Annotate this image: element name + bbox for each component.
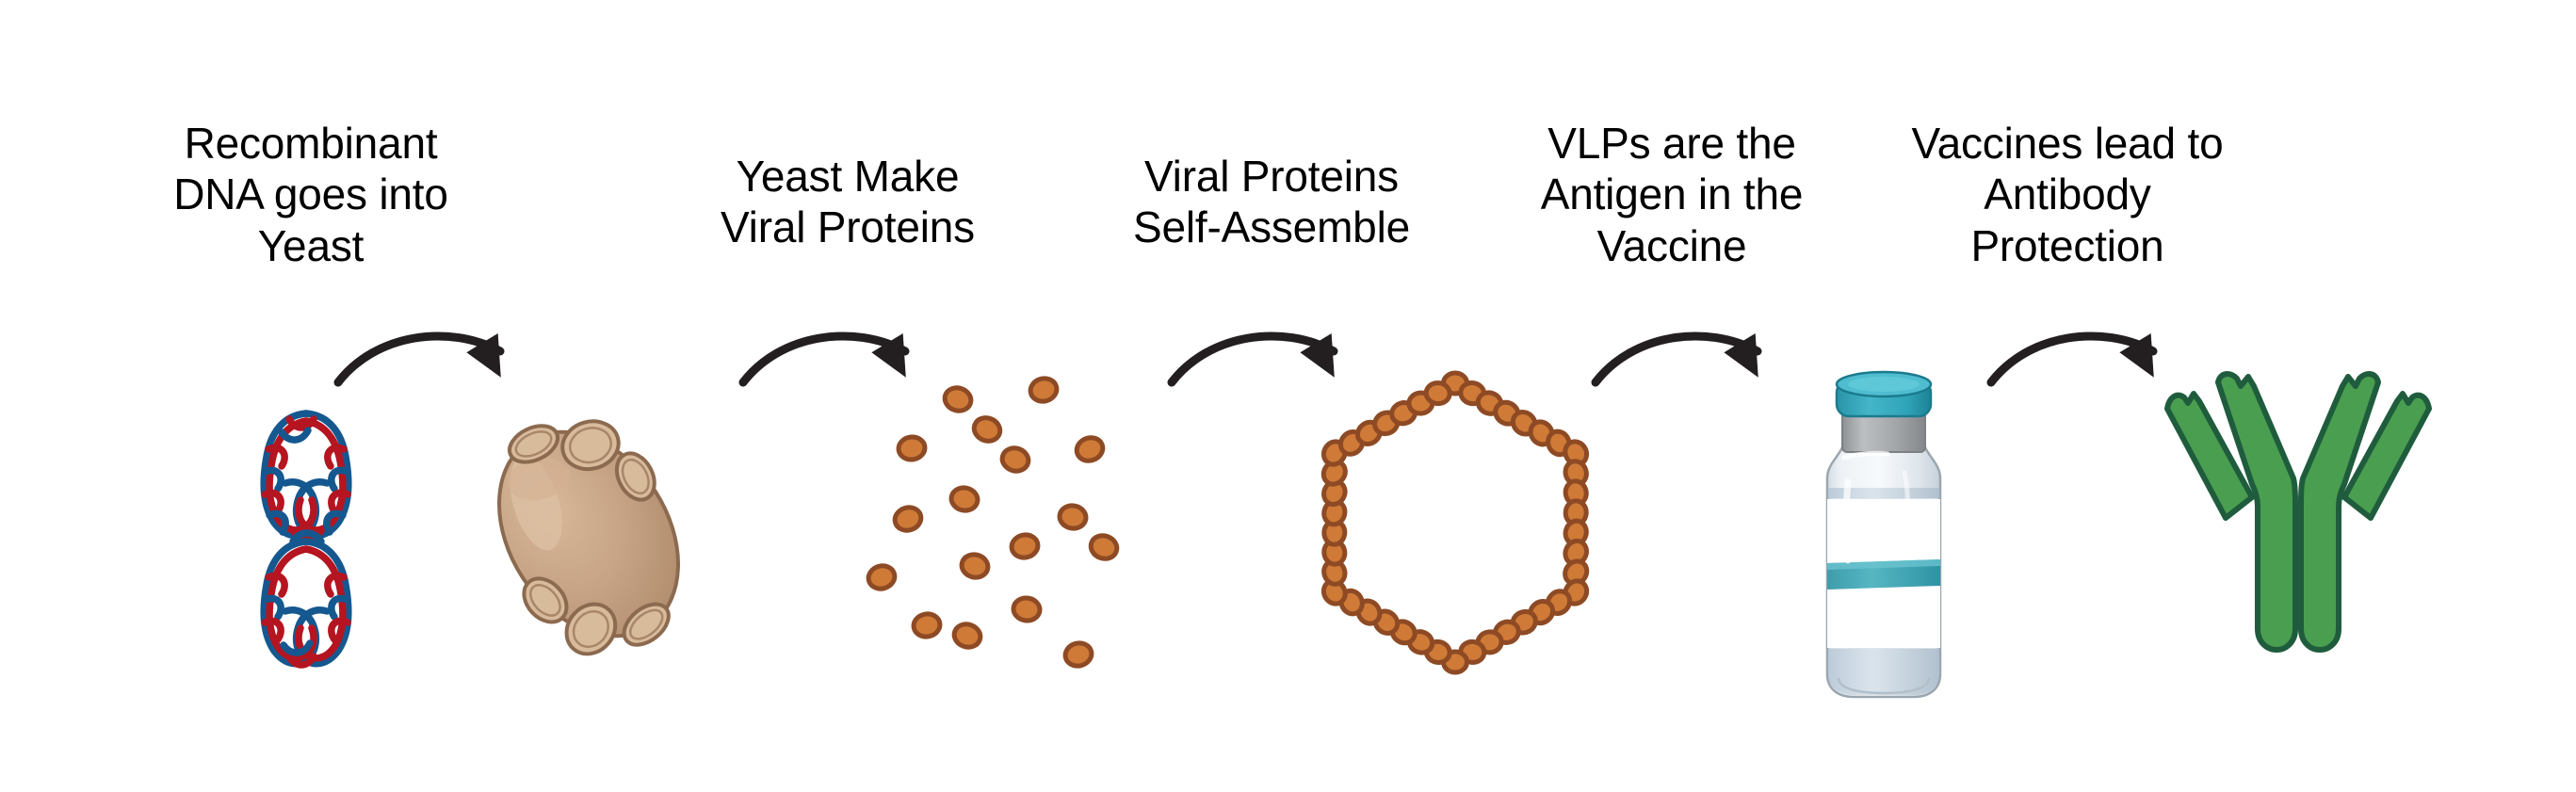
- vaccine-vial-icon: [1790, 367, 1978, 716]
- viral-proteins-icon: [848, 377, 1130, 678]
- arrow-1: [334, 320, 532, 391]
- vlp-capsid-icon: [1304, 367, 1606, 678]
- step-2-label: Yeast Make Viral Proteins: [659, 151, 1036, 253]
- arrow-4: [1592, 320, 1790, 391]
- antibody-icon: [2162, 377, 2435, 669]
- step-4-label: VLPs are the Antigen in the Vaccine: [1488, 118, 1855, 271]
- vlp-vaccine-workflow-diagram: Recombinant DNA goes into Yeast Yeast Ma…: [0, 0, 2576, 792]
- step-3-label: Viral Proteins Self-Assemble: [1074, 151, 1469, 253]
- recombinant-dna-icon: [240, 400, 372, 673]
- step-1-label: Recombinant DNA goes into Yeast: [113, 118, 509, 271]
- arrow-5: [1987, 320, 2185, 391]
- step-5-label: Vaccines lead to Antibody Protection: [1851, 118, 2284, 271]
- yeast-cell-icon: [471, 400, 706, 669]
